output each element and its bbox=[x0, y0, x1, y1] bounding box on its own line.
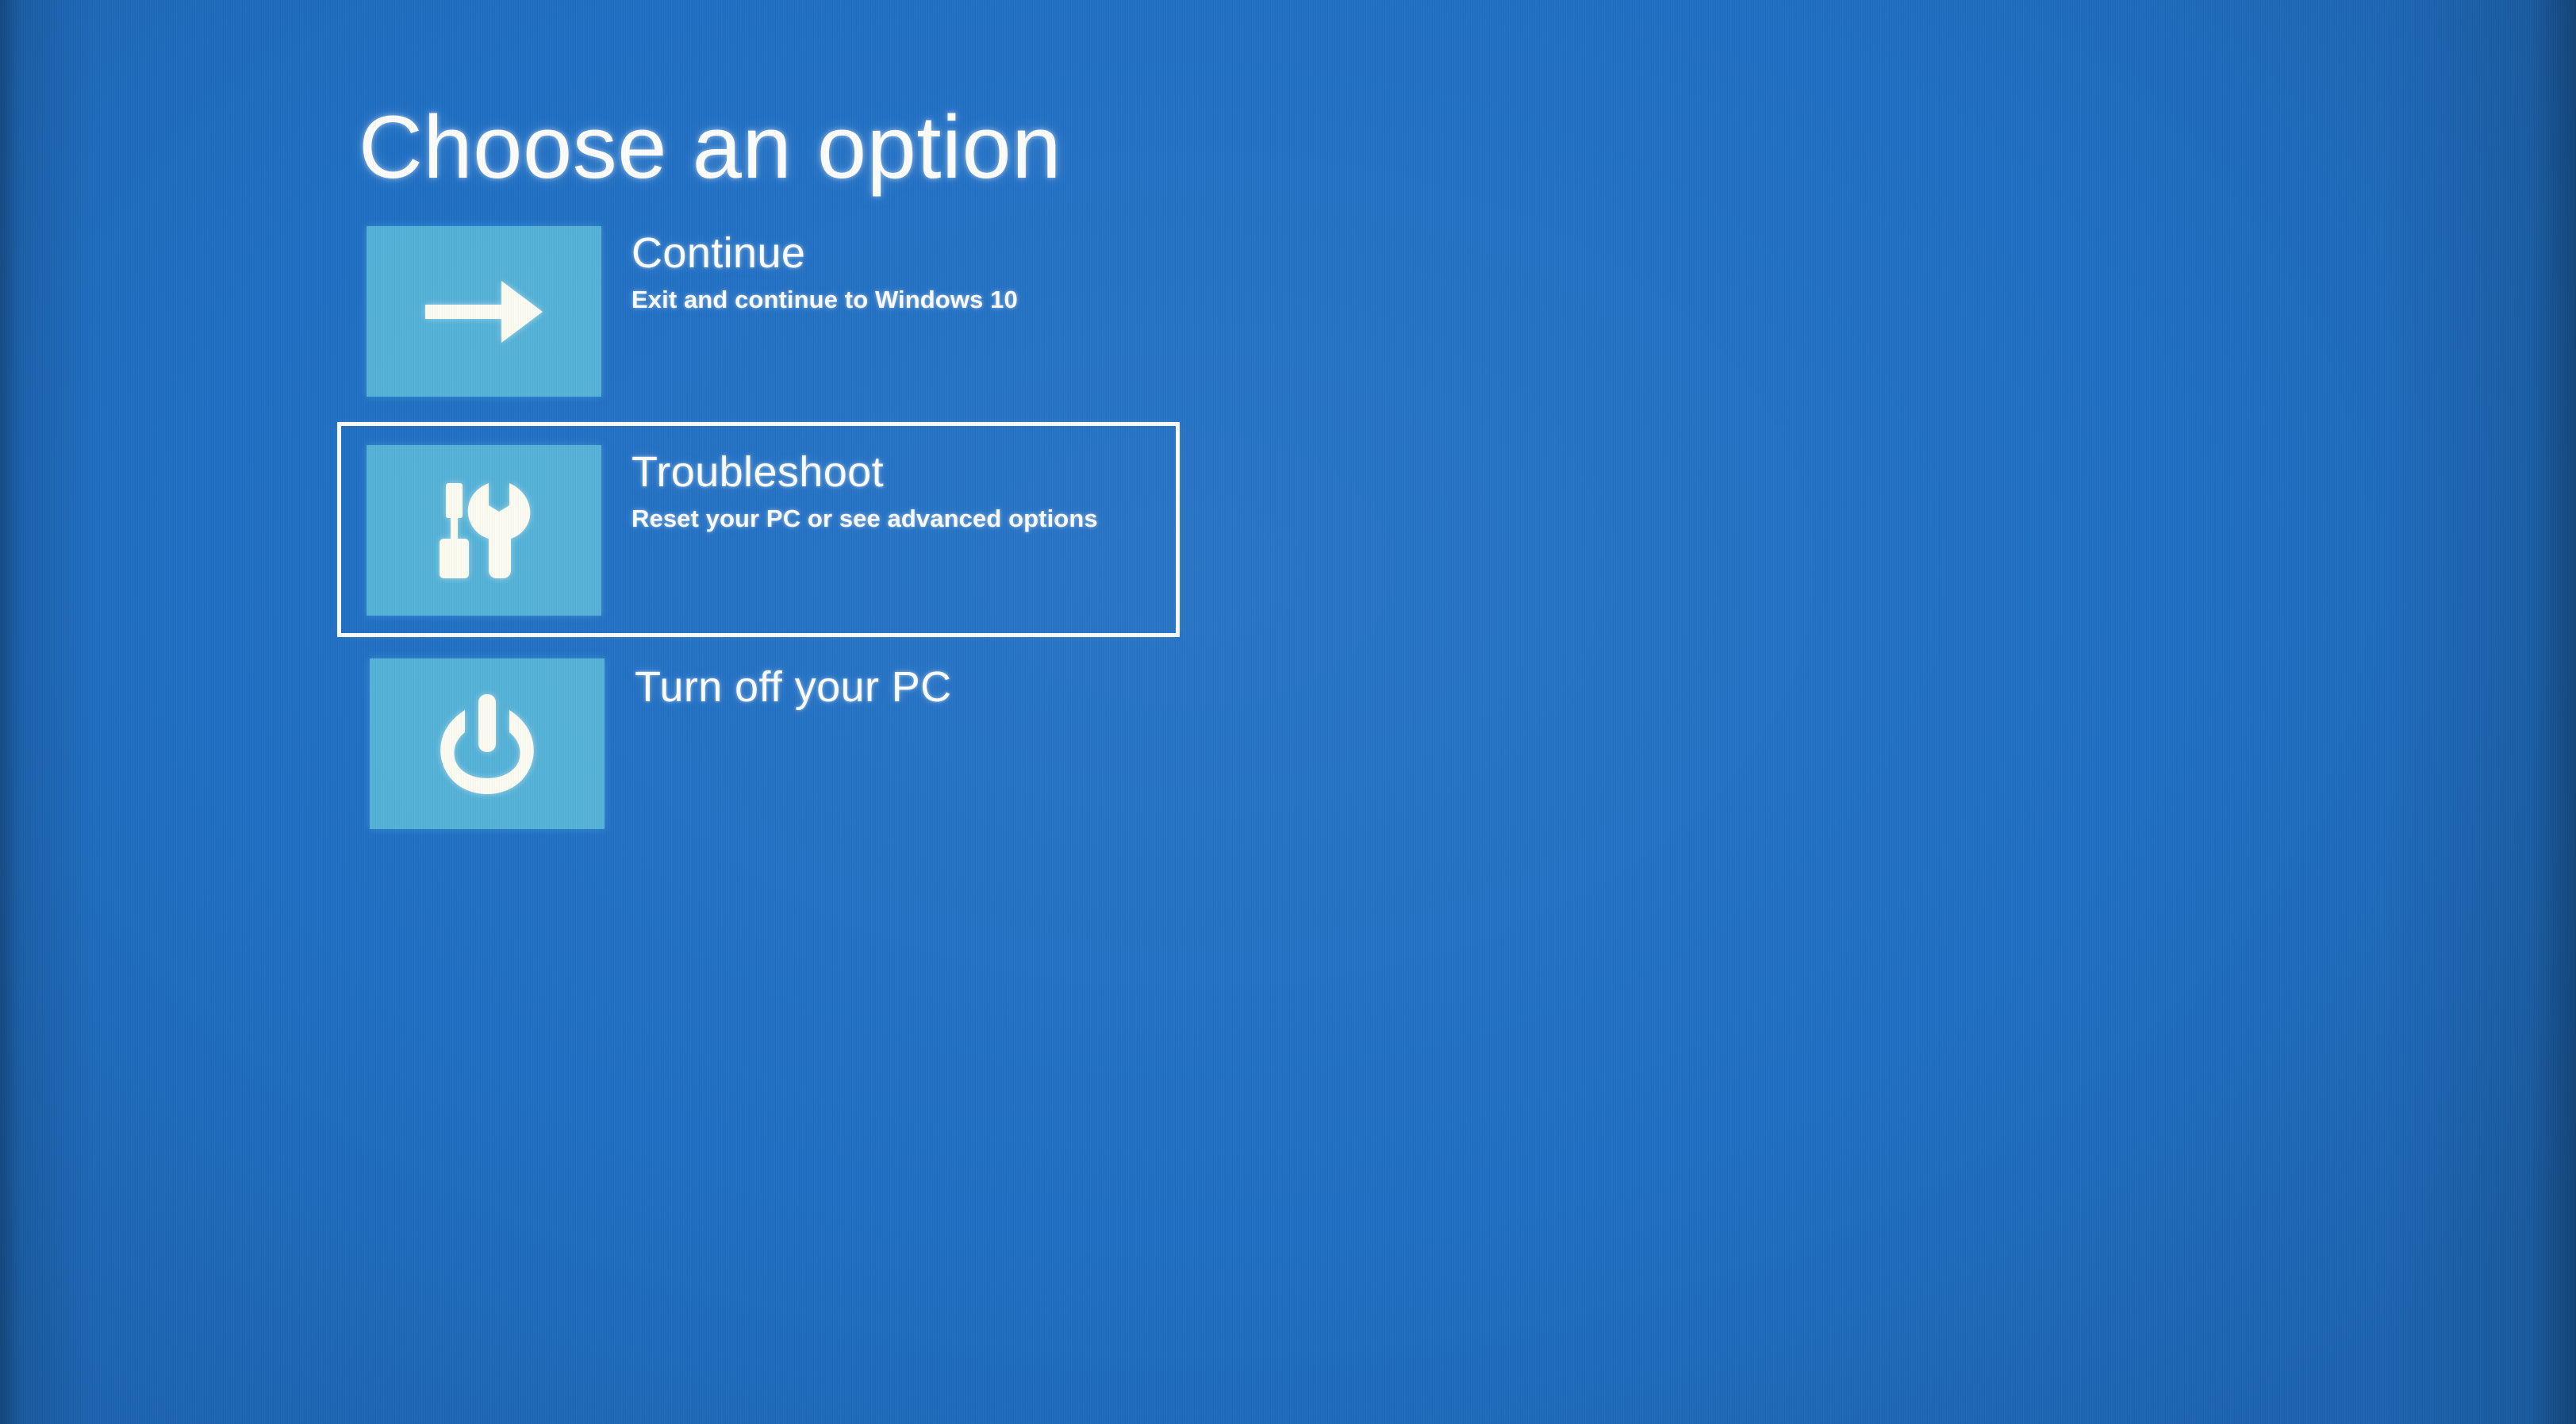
screwdriver-wrench-icon bbox=[432, 482, 536, 580]
option-tile-continue bbox=[367, 226, 601, 397]
option-item-turn-off-your-pc[interactable]: Turn off your PC bbox=[370, 658, 1179, 829]
option-text-troubleshoot: Troubleshoot Reset your PC or see advanc… bbox=[601, 426, 1176, 532]
power-icon bbox=[438, 694, 536, 794]
option-item-troubleshoot[interactable]: Troubleshoot Reset your PC or see advanc… bbox=[341, 426, 1176, 633]
option-text-continue: Continue Exit and continue to Windows 10 bbox=[601, 226, 1176, 313]
option-description-troubleshoot: Reset your PC or see advanced options bbox=[632, 505, 1176, 532]
option-label-continue: Continue bbox=[632, 231, 1176, 275]
arrow-right-icon bbox=[425, 270, 543, 354]
page-title: Choose an option bbox=[359, 98, 1061, 197]
option-text-turn-off-your-pc: Turn off your PC bbox=[605, 658, 1179, 709]
option-label-troubleshoot: Troubleshoot bbox=[632, 450, 1176, 494]
option-tile-wrapper-continue bbox=[367, 226, 601, 397]
option-item-continue[interactable]: Continue Exit and continue to Windows 10 bbox=[367, 226, 1176, 397]
option-tile-wrapper-troubleshoot bbox=[341, 426, 601, 635]
windows-recovery-choose-an-option-screen: Choose an option Continue Exit and conti… bbox=[0, 0, 2576, 1424]
option-description-continue: Exit and continue to Windows 10 bbox=[632, 286, 1176, 313]
option-tile-wrapper-turn-off-your-pc bbox=[370, 658, 605, 829]
option-label-turn-off-your-pc: Turn off your PC bbox=[635, 665, 1179, 709]
option-tile-turn-off-your-pc bbox=[370, 658, 605, 829]
option-tile-troubleshoot bbox=[367, 445, 601, 616]
